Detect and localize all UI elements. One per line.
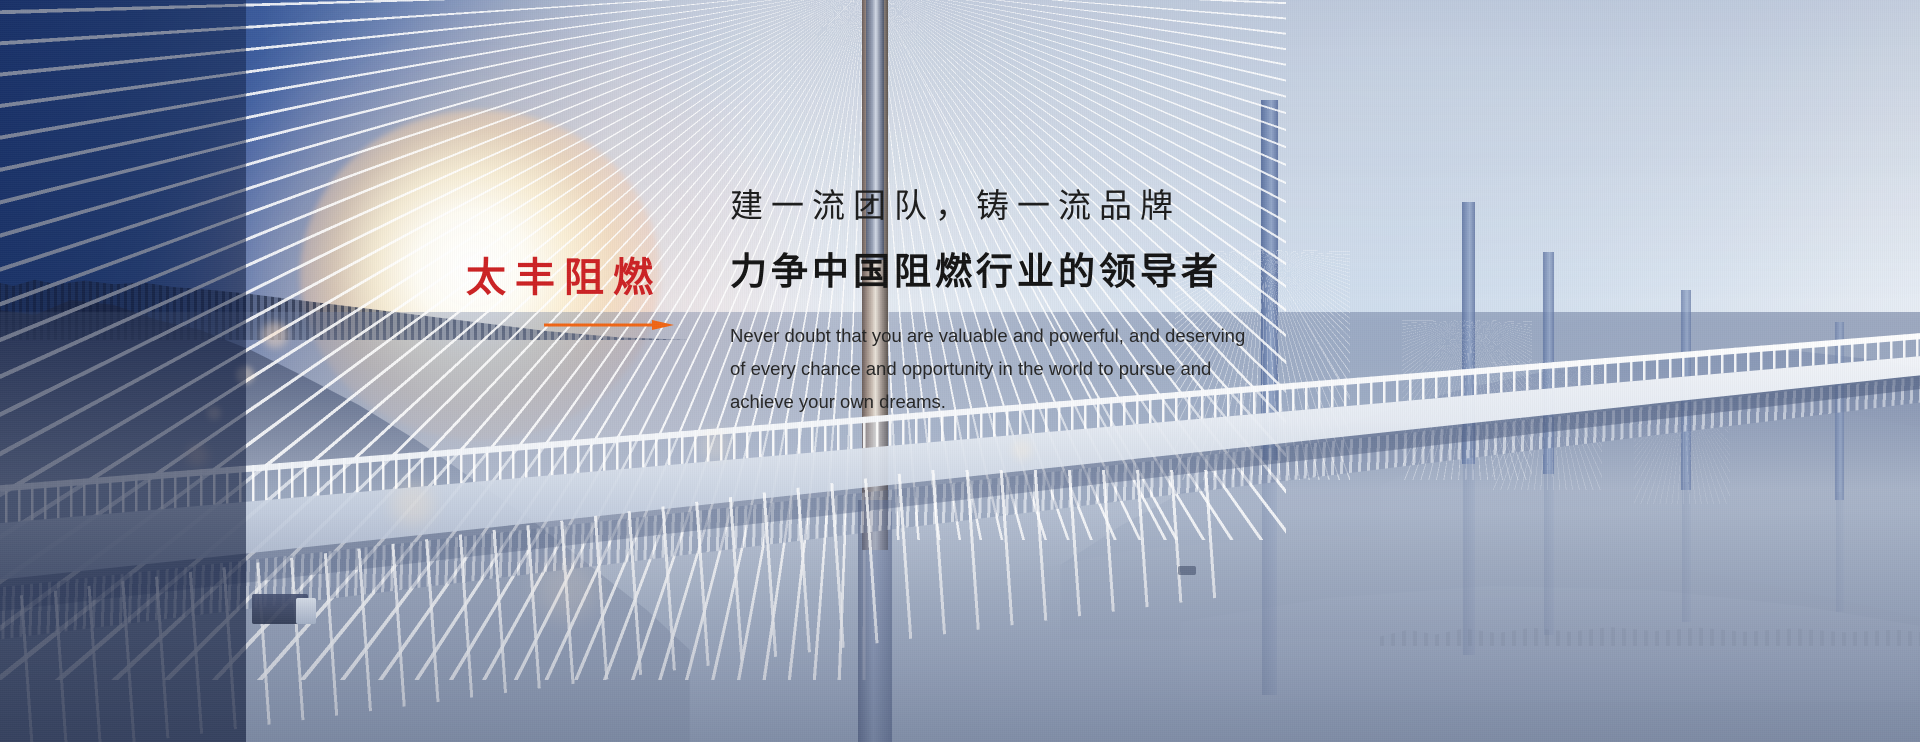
brand-logo-text: 太丰阻燃 (466, 258, 716, 298)
arrow-right-icon (544, 319, 674, 331)
brand-logo[interactable]: 太丰阻燃 (466, 258, 716, 331)
headline-primary: 建一流团队，铸一流品牌 (730, 188, 1490, 224)
hero-banner: 太丰阻燃 建一流团队，铸一流品牌 力争中国阻燃行业的领导者 Never doub… (0, 0, 1920, 742)
hero-subcopy: Never doubt that you are valuable and po… (730, 293, 1490, 419)
headline-secondary: 力争中国阻燃行业的领导者 (730, 224, 1490, 293)
hero-copy: 建一流团队，铸一流品牌 力争中国阻燃行业的领导者 Never doubt tha… (730, 188, 1490, 419)
bottom-scrim (0, 512, 1920, 742)
